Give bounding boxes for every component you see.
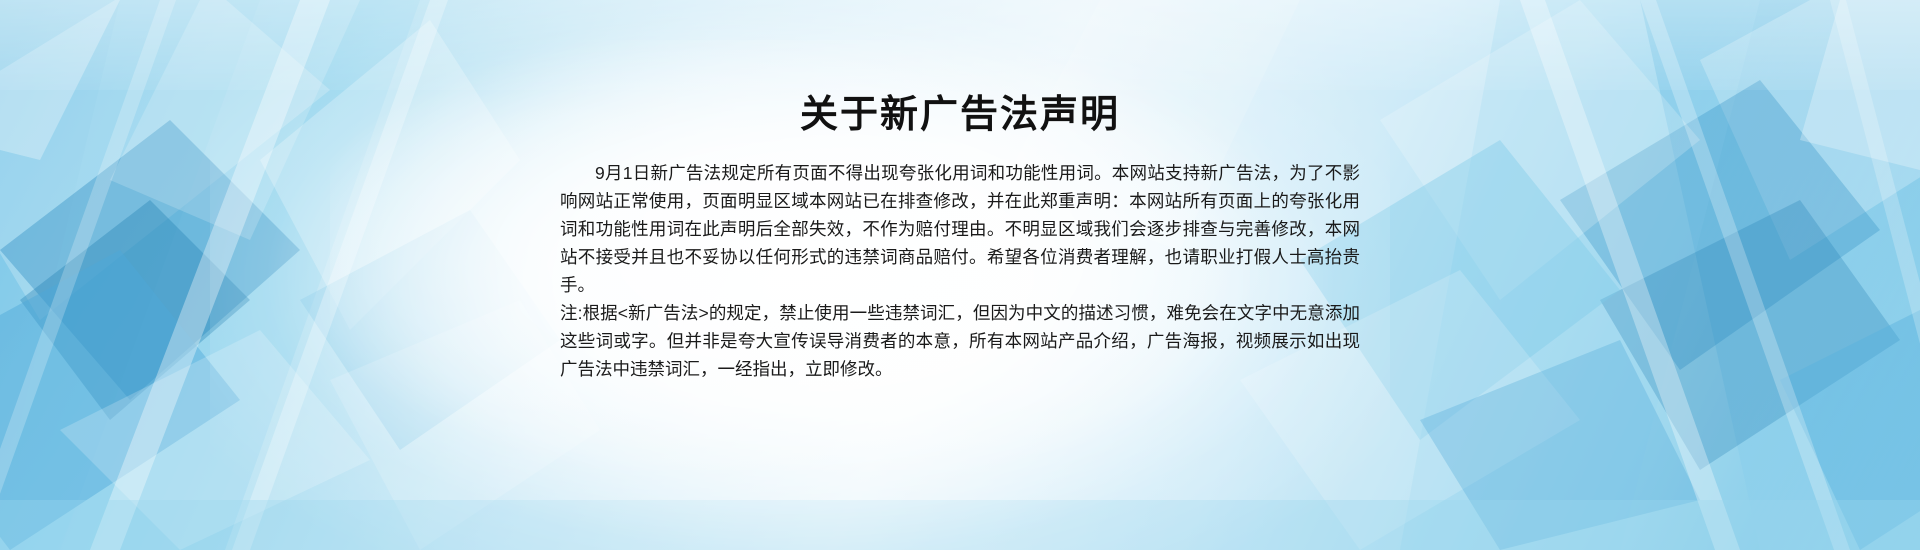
statement-paragraph-1: 9月1日新广告法规定所有页面不得出现夸张化用词和功能性用词。本网站支持新广告法，…	[560, 159, 1360, 299]
page-title: 关于新广告法声明	[800, 95, 1120, 137]
statement-content: 关于新广告法声明 9月1日新广告法规定所有页面不得出现夸张化用词和功能性用词。本…	[0, 0, 1920, 550]
statement-body: 9月1日新广告法规定所有页面不得出现夸张化用词和功能性用词。本网站支持新广告法，…	[560, 159, 1360, 383]
advertising-law-statement-banner: 关于新广告法声明 9月1日新广告法规定所有页面不得出现夸张化用词和功能性用词。本…	[0, 0, 1920, 550]
statement-paragraph-2: 注:根据<新广告法>的规定，禁止使用一些违禁词汇，但因为中文的描述习惯，难免会在…	[560, 299, 1360, 383]
